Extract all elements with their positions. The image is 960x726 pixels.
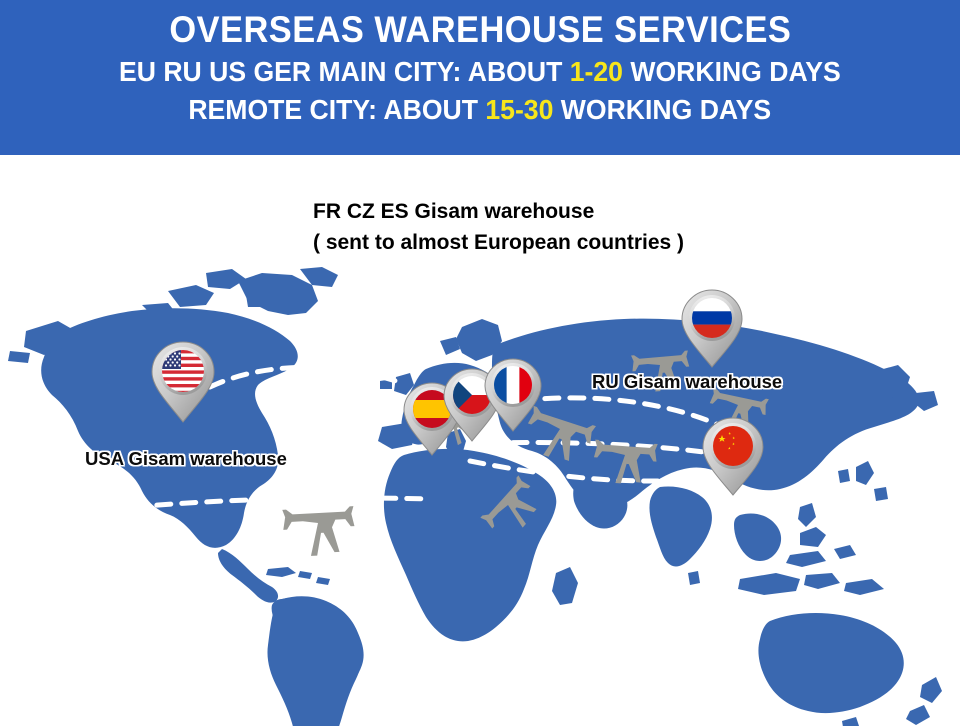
label-usa-warehouse: USA Gisam warehouse: [85, 448, 287, 470]
banner-line2-suffix: WORKING DAYS: [623, 56, 841, 87]
banner-line2-highlight: 1-20: [570, 56, 623, 87]
banner-line-main-city: EU RU US GER MAIN CITY: ABOUT 1-20 WORKI…: [119, 54, 841, 90]
map-landmasses: [8, 267, 942, 726]
banner-line3-suffix: WORKING DAYS: [554, 94, 772, 125]
fr-flag-icon: [494, 366, 532, 404]
airplane-icon: [282, 506, 356, 557]
banner-line3-prefix: REMOTE CITY: ABOUT: [189, 94, 486, 125]
header-banner: OVERSEAS WAREHOUSE SERVICES EU RU US GER…: [0, 0, 960, 155]
eu-warehouse-note-line1: FR CZ ES Gisam warehouse: [313, 196, 684, 227]
banner-title: OVERSEAS WAREHOUSE SERVICES: [169, 8, 791, 52]
warehouse-services-infographic: OVERSEAS WAREHOUSE SERVICES EU RU US GER…: [0, 0, 960, 726]
banner-line2-prefix: EU RU US GER MAIN CITY: ABOUT: [119, 56, 570, 87]
cn-flag-icon: [713, 426, 753, 466]
eu-warehouse-note: FR CZ ES Gisam warehouse ( sent to almos…: [313, 196, 684, 258]
ru-flag-icon: [692, 298, 732, 338]
banner-line-remote-city: REMOTE CITY: ABOUT 15-30 WORKING DAYS: [189, 92, 772, 128]
banner-line3-highlight: 15-30: [486, 94, 554, 125]
eu-warehouse-note-line2: ( sent to almost European countries ): [313, 227, 684, 258]
label-ru-warehouse: RU Gisam warehouse: [592, 371, 782, 393]
